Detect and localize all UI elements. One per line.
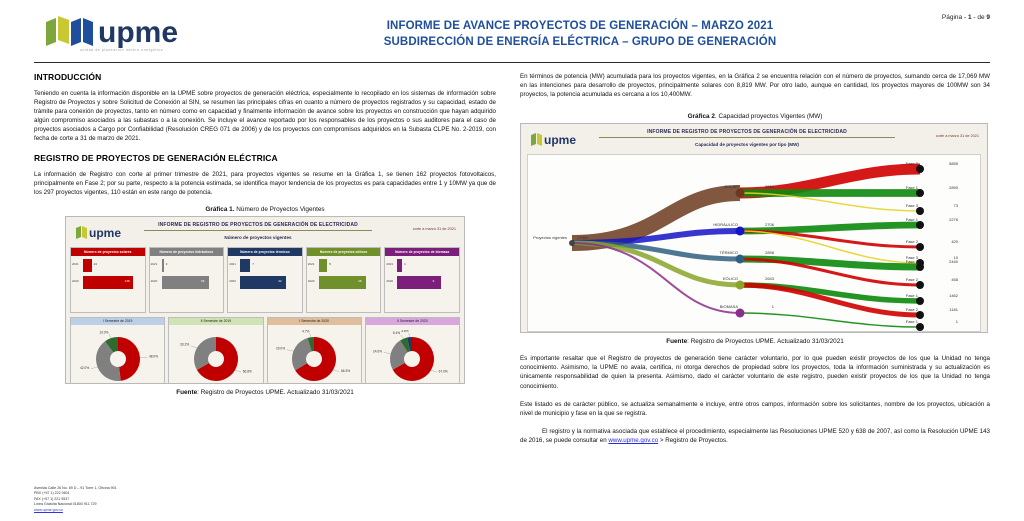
registro-paragraph: La información de Registro con corte al … [34, 170, 496, 197]
sankey-type-value: 2643 [765, 276, 775, 281]
grafica1-donut-panel: I Semestre de 201948.0%42.0%10.0% [70, 317, 165, 384]
grafica1-donut-leader-line [287, 350, 294, 351]
grafica1-bar-category: 2020 [386, 279, 393, 283]
sankey-phase-node [916, 189, 924, 197]
sankey-type-label: SOLAR [724, 184, 738, 189]
grafica1-donut-header: I Semestre de 2020 [268, 318, 361, 325]
grafica1-corte-label: corte a marzo 31 de 2021 [413, 227, 456, 231]
grafica1-donut-plot: 66.8%33.2% [169, 325, 262, 384]
grafica1-bar-value: 3 [166, 262, 168, 266]
sankey-phase-label: Fase 1 [906, 259, 919, 264]
footer-website-link[interactable]: www.upme.gov.co [34, 508, 63, 512]
sankey-phase-value: 2276 [949, 217, 959, 222]
sankey-phase-value: 2440 [949, 259, 959, 264]
svg-text:upme: upme [98, 16, 178, 49]
figure2-source-bold: Fuente [666, 338, 687, 345]
grafica1-donut-header: II Semestre de 2019 [169, 318, 262, 325]
normativa-text-pre: El registro y la normativa asociada que … [520, 428, 990, 444]
grafica1-panel: Número de proyectos eólicos20215202028 [306, 247, 382, 313]
grafica1-bar [162, 259, 164, 272]
sankey-phase-node [916, 243, 924, 251]
figure1-caption: Gráfica 1. Número de Proyectos Vigentes [34, 206, 496, 213]
grafica1-donut-leader-line [191, 346, 197, 348]
page-header: upme unidad de planeación minero energét… [0, 0, 1024, 62]
sankey-type-value: 2898 [765, 250, 775, 255]
grafica1-donut-plot: 66.3%29.0%4.7% [268, 325, 361, 384]
grafica2-dashboard-header: upme INFORME DE REGISTRO DE PROYECTOS DE… [521, 124, 987, 154]
grafica1-bar-category: 2021 [151, 262, 158, 266]
svg-text:unidad de planeación minero en: unidad de planeación minero energética [80, 48, 163, 52]
grafica1-panel-header: Número de proyectos solares [71, 248, 145, 256]
grafica1-donut-leader-line [409, 334, 410, 338]
grafica1-bar-row: 20211 [397, 259, 455, 272]
sankey-phase-label: Fase 1 [906, 319, 919, 324]
sankey-phase-value: 2890 [949, 185, 959, 190]
grafica1-bar-value: 138 [125, 279, 130, 283]
grafica1-donut-leader-line [310, 334, 311, 338]
grafica1-bar [240, 259, 250, 272]
grafica1-bar-category: 2021 [386, 262, 393, 266]
grafica1-donut-plot: 48.0%42.0%10.0% [71, 325, 164, 384]
page-of: - de [972, 14, 987, 21]
sankey-phase-node [916, 165, 924, 173]
grafica1-bar-category: 2021 [229, 262, 236, 266]
grafica1-donut-panel: I Semestre de 202066.3%29.0%4.7% [267, 317, 362, 384]
potencia-paragraph: En términos de potencia (MW) acumulada p… [520, 72, 990, 99]
figure2-caption-text: . Capacidad proyectos Vigentes (MW) [715, 113, 823, 120]
grafica1-donut-value-label: 4.7% [302, 330, 309, 333]
grafica1-dashboard: upme INFORME DE REGISTRO DE PROYECTOS DE… [65, 216, 465, 384]
grafica1-bar-category: 2021 [308, 262, 315, 266]
grafica1-bar-category: 2020 [229, 279, 236, 283]
grafica1-panel-header: Número de proyectos eólicos [307, 248, 381, 256]
grafica1-donut-value-label: 5.4% [393, 331, 400, 335]
grafica1-bar-value: 28 [358, 279, 361, 283]
grafica2-dashboard: upme INFORME DE REGISTRO DE PROYECTOS DE… [520, 123, 988, 333]
sankey-phase-node [916, 221, 924, 229]
grafica1-bar-value: 5 [329, 262, 331, 266]
grafica1-panel-plot: 2021242020138 [71, 256, 145, 312]
sankey-type-node [736, 309, 745, 318]
sankey-phase-node [916, 281, 924, 289]
sankey-source-label: Proyectos vigentes [533, 235, 567, 240]
sankey-type-label: HIDRÁULICO [713, 222, 738, 227]
grafica1-donut-panel: II Semestre de 202067.0%24.0%5.4%3.6% [365, 317, 460, 384]
grafica1-bar-row: 202124 [83, 259, 141, 272]
grafica1-bar-value: 24 [94, 262, 97, 266]
sankey-type-value: 8819 [765, 184, 775, 189]
sankey-phase-label: Fase 2 [906, 307, 919, 312]
sankey-phase-node [916, 311, 924, 319]
figure1-source-text: : Registro de Proyectos UPME. Actualizad… [197, 389, 354, 396]
grafica1-bar-category: 2021 [72, 262, 79, 266]
grafica1-donut-leader-line [431, 371, 437, 373]
grafica1-bar [319, 259, 327, 272]
figure2-source: Fuente: Registro de Proyectos UPME. Actu… [520, 338, 990, 345]
sankey-phase-value: 1 [956, 319, 959, 324]
grafica1-title-rule [144, 230, 372, 231]
figure2-caption: Gráfica 2. Capacidad proyectos Vigentes … [520, 113, 990, 120]
grafica1-bar-row: 20209 [397, 276, 455, 289]
grafica2-dashboard-title: INFORME DE REGISTRO DE PROYECTOS DE GENE… [599, 129, 895, 141]
grafica1-bar-row: 20215 [319, 259, 377, 272]
grafica1-donut-value-label: 67.0% [439, 370, 448, 374]
sankey-type-node [736, 281, 745, 290]
grafica1-panel-header: Número de proyectos de biomasa [385, 248, 459, 256]
grafica1-donut-value-label: 66.3% [341, 370, 350, 374]
grafica1-donut-value-label: 3.6% [402, 330, 409, 333]
grafica1-bar [83, 259, 92, 272]
grafica1-donut-value-label: 42.0% [80, 366, 89, 370]
grafica1-bar-category: 2020 [72, 279, 79, 283]
grafica1-upme-logo: upme [74, 224, 126, 245]
sankey-type-node [736, 227, 745, 236]
sankey-phase-node [916, 207, 924, 215]
grafica1-bar-row: 202066 [162, 276, 220, 289]
sankey-type-value: 2706 [765, 222, 775, 227]
grafica1-bar-value: 1 [404, 262, 406, 266]
sankey-phase-node [916, 263, 924, 271]
grafica1-bar-value: 7 [252, 262, 254, 266]
svg-text:upme: upme [89, 226, 121, 240]
grafica2-dashboard-subtitle: Capacidad de proyectos vigentes por tipo… [599, 142, 895, 147]
grafica2-upme-logo: upme [529, 131, 581, 152]
grafica1-panel-header: Número de proyectos térmicos [228, 248, 302, 256]
sankey-type-label: EÓLICO [723, 276, 738, 281]
grafica1-bar-value: 9 [433, 279, 435, 283]
grafica1-bar-value: 32 [278, 279, 281, 283]
intro-paragraph: Teniendo en cuenta la información dispon… [34, 89, 496, 144]
sankey-type-value: 1 [772, 304, 775, 309]
sankey-link-source-to-type [572, 243, 740, 313]
grafica1-bar-row: 202028 [319, 276, 377, 289]
grafica1-donut-value-label: 10.0% [99, 331, 108, 335]
listado-paragraph: Este listado es de carácter público, se … [520, 400, 990, 418]
grafica1-panel-plot: 20213202066 [150, 256, 224, 312]
voluntario-paragraph: Es importante resaltar que el Registro d… [520, 354, 990, 390]
grafica1-bar-category: 2020 [151, 279, 158, 283]
grafica1-title-text: INFORME DE REGISTRO DE PROYECTOS DE GENE… [144, 222, 372, 228]
figure1-source: Fuente: Registro de Proyectos UPME. Actu… [34, 389, 496, 396]
document-page: upme unidad de planeación minero energét… [0, 0, 1024, 521]
grafica1-donut-plot: 67.0%24.0%5.4%3.6% [366, 325, 459, 384]
grafica1-dashboard-subtitle: Número de proyectos vigentes [144, 235, 372, 240]
grafica1-donut-value-label: 24.0% [373, 350, 382, 354]
sankey-phase-label: Fase 2 [906, 239, 919, 244]
page-label: Página - [942, 14, 968, 21]
sankey-type-node [736, 189, 745, 198]
page-indicator: Página - 1 - de 9 [942, 14, 990, 21]
grafica1-donut-panels: I Semestre de 201948.0%42.0%10.0%II Seme… [66, 317, 464, 384]
section-title-registro: REGISTRO DE PROYECTOS DE GENERACIÓN ELÉC… [34, 153, 496, 163]
sankey-phase-node [916, 297, 924, 305]
sankey-phase-value: 458 [951, 277, 958, 282]
grafica1-donut-slice [194, 337, 216, 370]
grafica1-donut-panel: II Semestre de 201966.8%33.2% [168, 317, 263, 384]
grafica1-bar [397, 259, 402, 272]
sankey-phase-label: Fase 1 [906, 217, 919, 222]
grafica1-donut-slice [118, 337, 140, 381]
sankey-phase-label: Fase 1 [906, 293, 919, 298]
grafica1-bar-row: 202032 [240, 276, 298, 289]
grafica2-title-rule [599, 137, 895, 138]
section-title-introduccion: INTRODUCCIÓN [34, 72, 496, 82]
grafica1-panel-header: Número de proyectos hidráulicos [150, 248, 224, 256]
page-footer: Avenida Calle 26 No. 69 D – 91 Torre 1, … [34, 486, 117, 513]
sankey-phase-label: Fase 2 [906, 277, 919, 282]
sankey-source-value: 17069 [577, 235, 589, 240]
right-column: En términos de potencia (MW) acumulada p… [520, 72, 990, 454]
sankey-phase-value: 73 [954, 203, 959, 208]
normativa-text-post: > Registro de Proyectos. [658, 437, 728, 444]
grafica1-donut-header: II Semestre de 2020 [366, 318, 459, 325]
grafica2-title-text: INFORME DE REGISTRO DE PROYECTOS DE GENE… [599, 129, 895, 135]
grafica2-sankey-area: Fase 25855Fase 12890Fase 373SOLAR8819Fas… [527, 154, 981, 332]
grafica1-donut-value-label: 48.0% [149, 355, 158, 359]
sankey-phase-label: Fase 2 [906, 161, 919, 166]
grafica1-panel: Número de proyectos solares2021242020138 [70, 247, 146, 313]
figure2-caption-bold: Gráfica 2 [688, 113, 715, 120]
grafica1-donut-leader-line [401, 335, 404, 339]
grafica1-panel: Número de proyectos hidráulicos202132020… [149, 247, 225, 313]
figure2-source-text: : Registro de Proyectos UPME. Actualizad… [687, 338, 844, 345]
grafica1-panel-plot: 20217202032 [228, 256, 302, 312]
left-column: INTRODUCCIÓN Teniendo en cuenta la infor… [34, 72, 496, 396]
header-divider [34, 62, 990, 63]
grafica1-bar-panels: Número de proyectos solares2021242020138… [66, 247, 464, 313]
grafica1-bar-value: 66 [201, 279, 204, 283]
sankey-type-label: BIOMASA [720, 304, 739, 309]
figure1-caption-bold: Gráfica 1. [205, 206, 234, 213]
grafica1-panel-plot: 2021120209 [385, 256, 459, 312]
report-title-line2: SUBDIRECCIÓN DE ENERGÍA ELÉCTRICA – GRUP… [300, 34, 860, 50]
sankey-phase-value: 1462 [949, 293, 959, 298]
sankey-phase-label: Fase 1 [906, 185, 919, 190]
normativa-paragraph: El registro y la normativa asociada que … [520, 427, 990, 445]
sankey-phase-node [916, 323, 924, 331]
sankey-phase-value: 5855 [949, 161, 959, 166]
sankey-phase-value: 420 [951, 239, 958, 244]
sankey-phase-value: 1181 [949, 307, 958, 312]
grafica1-dashboard-title: INFORME DE REGISTRO DE PROYECTOS DE GENE… [144, 222, 372, 234]
grafica1-panel-plot: 20215202028 [307, 256, 381, 312]
grafica1-donut-leader-line [333, 370, 339, 372]
grafica1-panel: Número de proyectos térmicos20217202032 [227, 247, 303, 313]
report-title: INFORME DE AVANCE PROYECTOS DE GENERACIÓ… [300, 18, 860, 50]
grafica1-donut-leader-line [91, 367, 98, 368]
figure1-source-bold: Fuente [176, 389, 197, 396]
grafica1-donut-value-label: 66.8% [243, 370, 252, 374]
grafica2-corte-label: corte a marzo 31 de 2021 [936, 134, 979, 138]
grafica1-bar-row: 2020138 [83, 276, 141, 289]
sankey-phase-label: Fase 3 [906, 203, 919, 208]
sankey-type-node [736, 255, 745, 264]
grafica1-bar-category: 2020 [308, 279, 315, 283]
grafica1-donut-leader-line [235, 370, 241, 372]
grafica1-donut-header: I Semestre de 2019 [71, 318, 164, 325]
upme-logo: upme unidad de planeación minero energét… [40, 12, 200, 54]
grafica1-panel: Número de proyectos de biomasa2021120209 [384, 247, 460, 313]
sankey-source-node [569, 240, 575, 246]
grafica1-donut-leader-line [109, 335, 111, 339]
grafica1-bar-row: 20213 [162, 259, 220, 272]
svg-text:upme: upme [544, 133, 576, 147]
grafica1-donut-leader-line [384, 353, 391, 354]
sankey-type-label: TÉRMICO [720, 250, 738, 255]
figure1-caption-text: Número de Proyectos Vigentes [235, 206, 325, 213]
grafica1-donut-value-label: 33.2% [180, 343, 189, 347]
report-title-line1: INFORME DE AVANCE PROYECTOS DE GENERACIÓ… [300, 18, 860, 34]
upme-website-link[interactable]: www.upme.gov.co [608, 437, 658, 444]
grafica1-dashboard-header: upme INFORME DE REGISTRO DE PROYECTOS DE… [66, 217, 464, 247]
grafica1-bar-row: 20217 [240, 259, 298, 272]
grafica1-donut-value-label: 29.0% [276, 347, 285, 351]
page-total: 9 [986, 14, 990, 21]
